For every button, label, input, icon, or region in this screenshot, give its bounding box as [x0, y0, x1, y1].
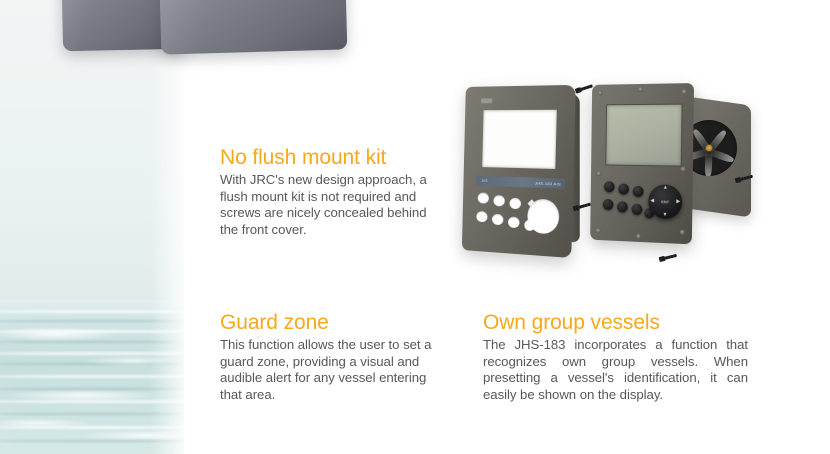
cover-strip-tag: AIS [482, 179, 488, 183]
feature-heading: Own group vessels [483, 310, 748, 335]
clipped-heading-right [483, 446, 748, 454]
product-photo-display-unit: ▲ ▼ ◀ ▶ ENT [585, 78, 763, 264]
arrow-down-icon[interactable]: ▼ [662, 213, 667, 218]
unit-front-panel: ▲ ▼ ◀ ▶ ENT [590, 83, 694, 244]
page-canvas: ✂ ☀ ▭ CLR · ··· ··· DISP ⌀ ⏱ ▭ ✂ ☀ ▭ CLR… [0, 0, 830, 454]
panel-sheen [159, 0, 348, 55]
screw-shaft [580, 84, 593, 91]
screw-hole [681, 167, 686, 172]
cover-model-label: JHS-183 AIS [535, 180, 561, 186]
screw-shaft [664, 254, 677, 260]
cover-dpad-hole [527, 198, 560, 234]
screw [659, 253, 678, 262]
screw-hole [638, 87, 643, 92]
unit-button[interactable] [603, 199, 614, 210]
arrow-left-icon[interactable]: ◀ [650, 199, 654, 204]
cover-logo [481, 98, 492, 103]
cover-front-face: AIS JHS-183 AIS [462, 85, 576, 258]
unit-button[interactable] [604, 181, 615, 192]
feature-heading: No flush mount kit [220, 145, 438, 170]
cover-button-hole [508, 217, 520, 229]
screw-shaft [740, 175, 753, 181]
product-photo-front-cover: AIS JHS-183 AIS [452, 82, 588, 264]
feature-guard-zone: Guard zone This function allows the user… [220, 310, 450, 403]
screw-hole [682, 89, 687, 94]
unit-button[interactable] [632, 204, 643, 215]
screw-hole [636, 234, 641, 239]
feature-body: This function allows the user to set a g… [220, 337, 450, 403]
feature-body: The JHS-183 incorporates a function that… [483, 337, 748, 403]
cover-button-hole [493, 195, 505, 206]
enter-button-label[interactable]: ENT [661, 199, 669, 204]
clipped-heading-left [220, 446, 450, 454]
screw-hole [597, 171, 602, 176]
cover-button-hole [476, 211, 487, 222]
unit-button[interactable] [633, 186, 644, 197]
arrow-up-icon[interactable]: ▲ [663, 186, 668, 191]
screw-shaft [578, 203, 591, 209]
cover-button-hole [478, 192, 489, 203]
feature-heading: Guard zone [220, 310, 450, 335]
screw-hole [680, 230, 685, 235]
photo-edge-fade [150, 0, 184, 454]
unit-dpad-control[interactable]: ▲ ▼ ◀ ▶ ENT [648, 184, 682, 219]
unit-lcd-screen [605, 104, 682, 167]
cover-button-hole [492, 214, 504, 225]
cover-label-strip: AIS JHS-183 AIS [476, 176, 565, 189]
feature-own-group-vessels: Own group vessels The JHS-183 incorporat… [483, 310, 748, 403]
cover-button-hole [509, 198, 521, 210]
control-panel-primary: ⌀ ⏱ ▭ ✂ ☀ ▭ CLR · ··· ··· DISP ALARM ▲ ▼… [159, 0, 348, 55]
feature-no-flush-mount-kit: No flush mount kit With JRC's new design… [220, 145, 438, 238]
screw-hole [596, 228, 601, 233]
seascape-photo [0, 0, 184, 454]
unit-button[interactable] [617, 201, 628, 212]
cover-display-window [482, 110, 557, 169]
screw-hole [598, 91, 603, 96]
arrow-right-icon[interactable]: ▶ [676, 200, 680, 205]
unit-button[interactable] [618, 183, 629, 194]
feature-body: With JRC's new design approach, a flush … [220, 172, 438, 238]
